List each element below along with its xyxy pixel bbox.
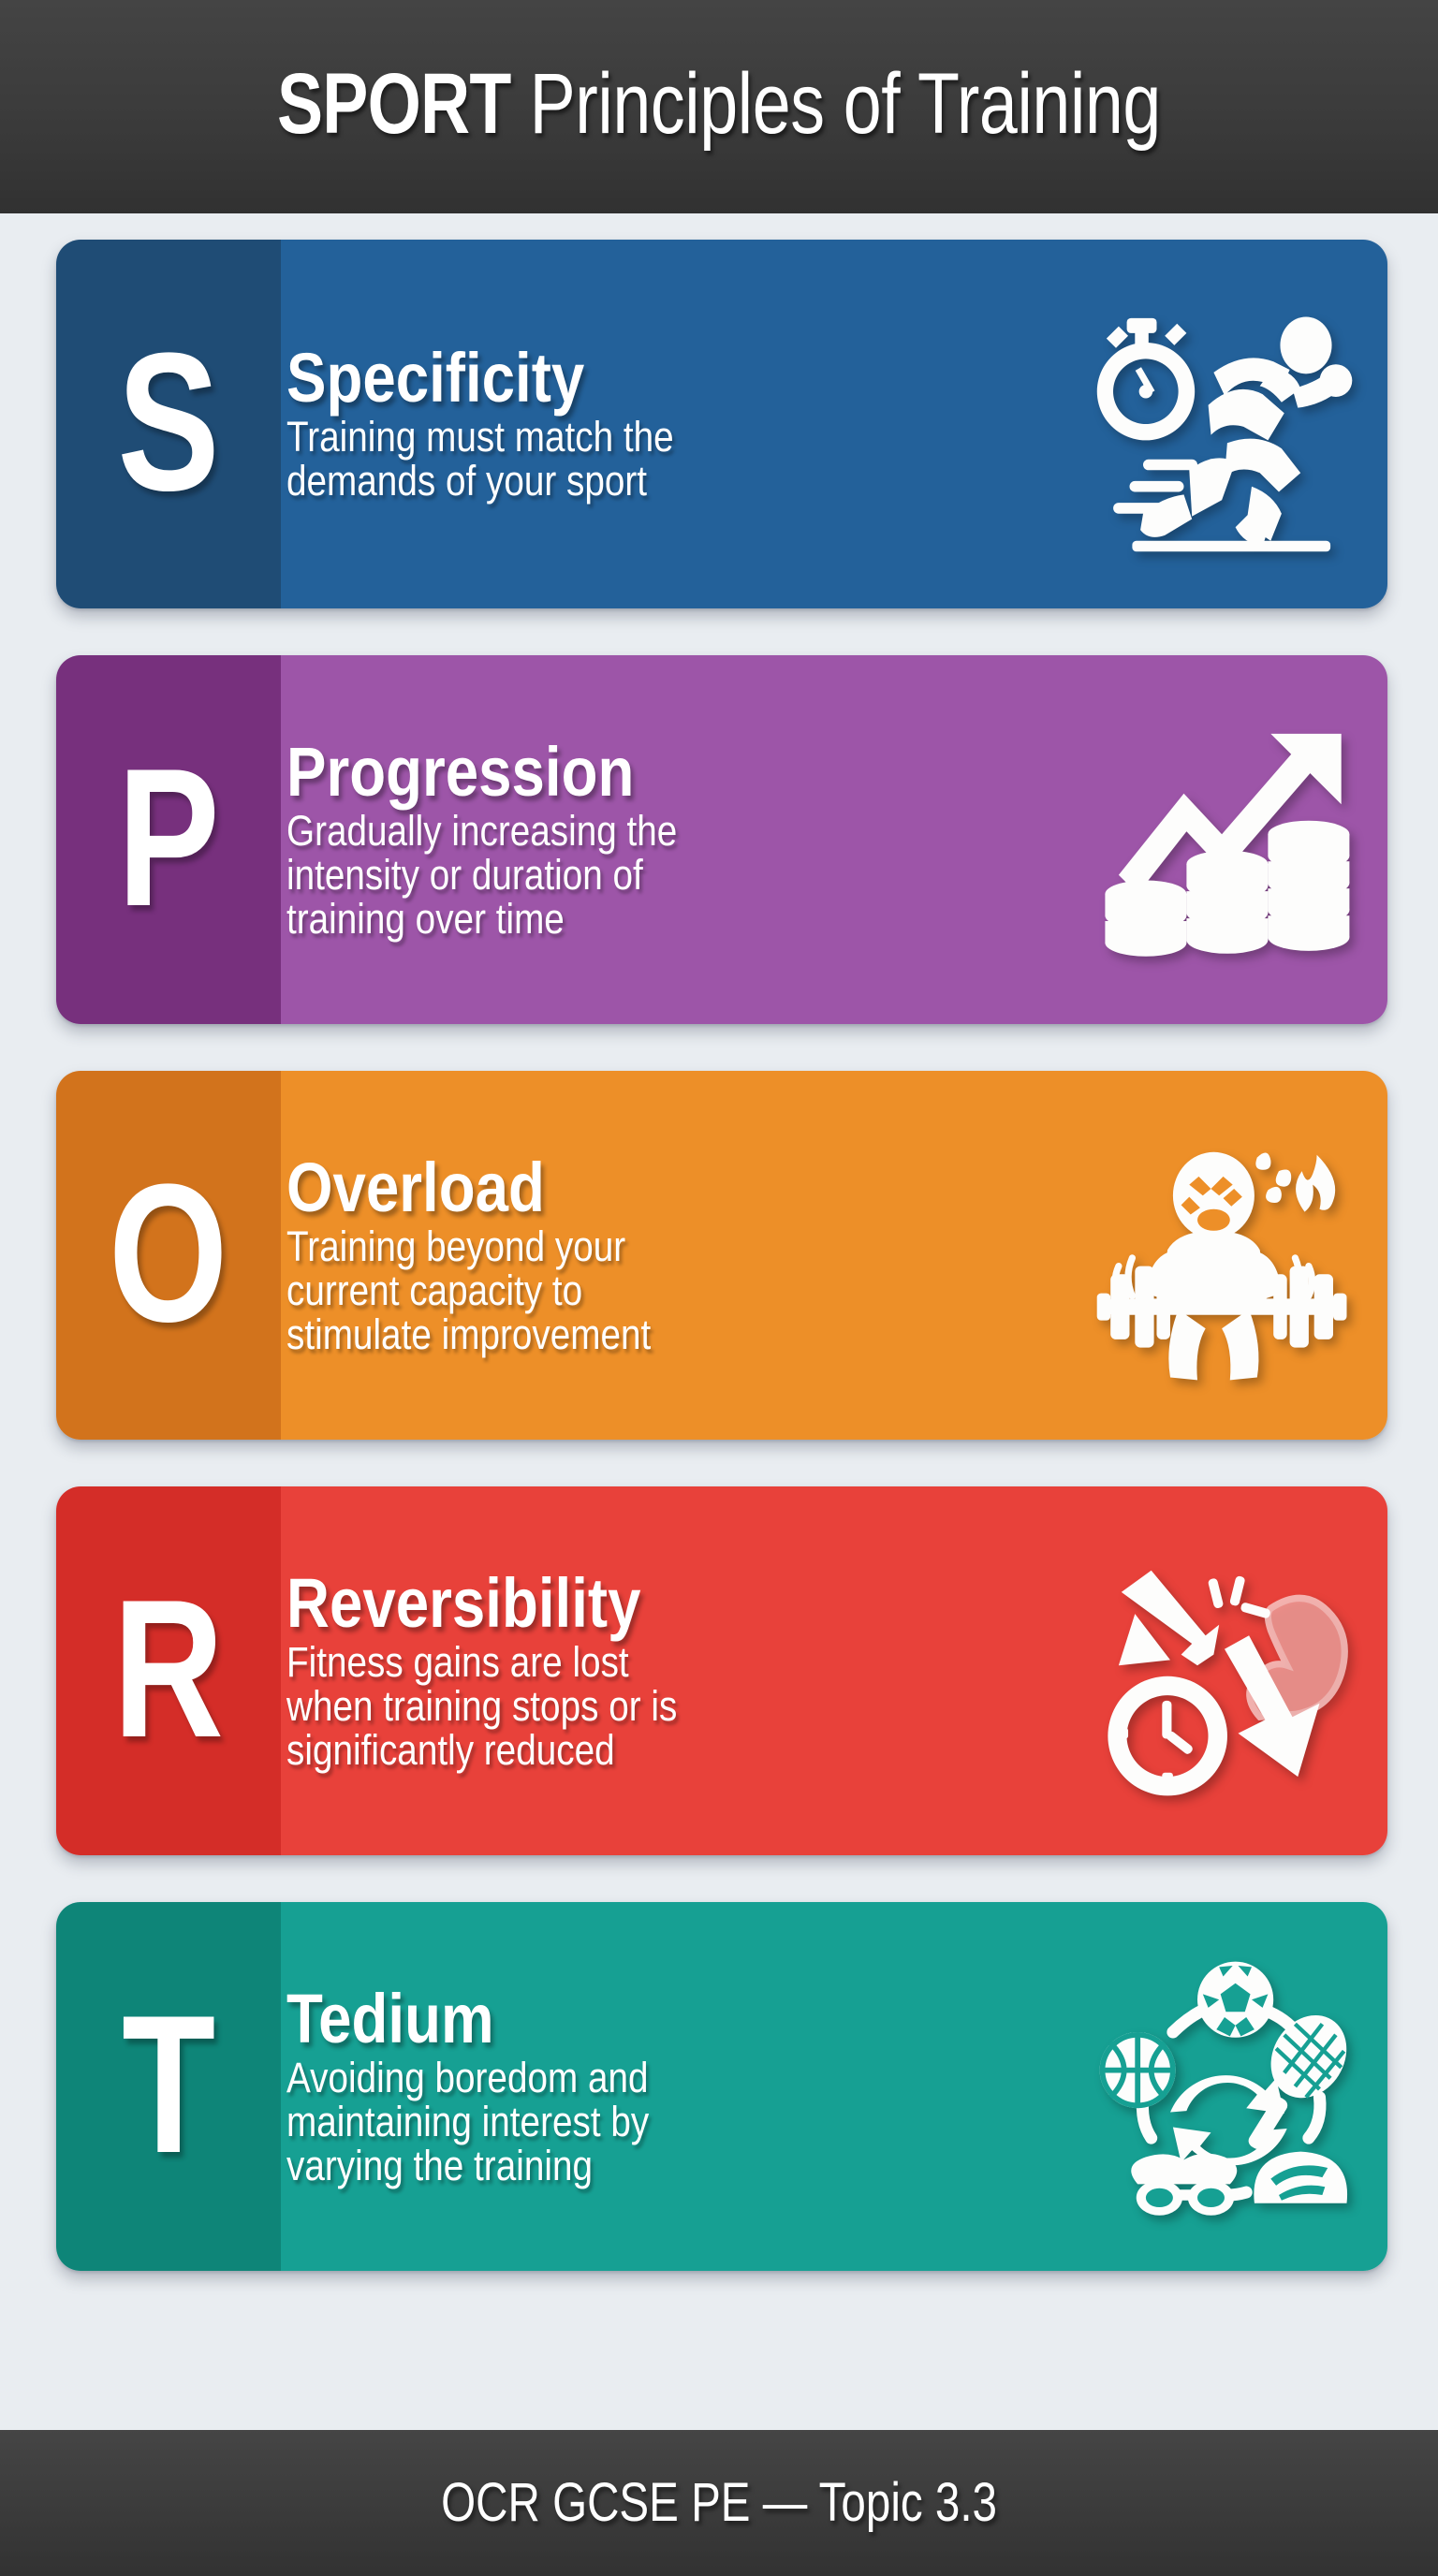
description-line: intensity or duration of: [286, 854, 957, 898]
page-header: SPORT Principles of Training: [0, 0, 1438, 213]
principle-description: Gradually increasing the intensity or du…: [286, 810, 957, 941]
description-line: varying the training: [286, 2144, 957, 2188]
principle-description: Training must match the demands of your …: [286, 416, 957, 504]
infographic-page: SPORT Principles of Training S Specifici…: [0, 0, 1438, 2576]
letter-strip: P: [56, 655, 281, 1024]
card-body: Progression Gradually increasing the int…: [281, 655, 1387, 1024]
description-line: when training stops or is: [286, 1685, 957, 1729]
description-line: Gradually increasing the: [286, 810, 957, 854]
card-text: Reversibility Fitness gains are lost whe…: [286, 1570, 1078, 1773]
principle-letter: O: [109, 1169, 227, 1339]
letter-strip: R: [56, 1486, 281, 1855]
card-text: Overload Training beyond your current ca…: [286, 1154, 1078, 1357]
description-line: Fitness gains are lost: [286, 1641, 957, 1685]
description-line: demands of your sport: [286, 460, 957, 504]
stopwatch-runner-icon: [1078, 288, 1387, 560]
principle-letter: R: [113, 1585, 224, 1754]
principle-description: Avoiding boredom and maintaining interes…: [286, 2056, 957, 2188]
description-line: stimulate improvement: [286, 1313, 957, 1357]
principle-letter: S: [117, 338, 219, 507]
card-body: Reversibility Fitness gains are lost whe…: [281, 1486, 1387, 1855]
principle-card-overload[interactable]: O Overload Training beyond your current …: [56, 1071, 1387, 1440]
principle-title: Progression: [286, 739, 957, 807]
description-line: maintaining interest by: [286, 2100, 957, 2144]
card-body: Tedium Avoiding boredom and maintaining …: [281, 1902, 1387, 2271]
letter-strip: T: [56, 1902, 281, 2271]
principles-list: S Specificity Training must match the de…: [0, 213, 1438, 2430]
principle-title: Reversibility: [286, 1570, 957, 1638]
letter-strip: O: [56, 1071, 281, 1440]
card-text: Specificity Training must match the dema…: [286, 344, 1078, 504]
description-line: training over time: [286, 898, 957, 942]
principle-card-reversibility[interactable]: R Reversibility Fitness gains are lost w…: [56, 1486, 1387, 1855]
principle-title: Specificity: [286, 344, 957, 413]
description-line: Avoiding boredom and: [286, 2056, 957, 2100]
principle-title: Tedium: [286, 1985, 957, 2054]
card-text: Progression Gradually increasing the int…: [286, 739, 1078, 942]
card-body: Specificity Training must match the dema…: [281, 240, 1387, 608]
page-title-brand: SPORT: [277, 56, 511, 152]
page-footer: OCR GCSE PE — Topic 3.3: [0, 2430, 1438, 2576]
principle-card-progression[interactable]: P Progression Gradually increasing the i…: [56, 655, 1387, 1024]
principle-title: Overload: [286, 1154, 957, 1222]
footer-label: OCR GCSE PE — Topic 3.3: [441, 2476, 997, 2530]
principle-letter: P: [117, 754, 219, 923]
page-title-subtitle: Principles of Training: [530, 56, 1161, 152]
description-line: significantly reduced: [286, 1729, 957, 1773]
principle-card-specificity[interactable]: S Specificity Training must match the de…: [56, 240, 1387, 608]
letter-strip: S: [56, 240, 281, 608]
sports-variety-cycle-icon: [1078, 1951, 1387, 2222]
description-line: current capacity to: [286, 1269, 957, 1313]
principle-description: Fitness gains are lost when training sto…: [286, 1641, 957, 1772]
card-body: Overload Training beyond your current ca…: [281, 1071, 1387, 1440]
broken-arrow-clock-muscle-icon: [1078, 1535, 1387, 1807]
rising-arrow-coin-stacks-icon: [1078, 704, 1387, 975]
principle-description: Training beyond your current capacity to…: [286, 1225, 957, 1356]
principle-letter: T: [122, 2000, 215, 2170]
principle-card-tedium[interactable]: T Tedium Avoiding boredom and maintainin…: [56, 1902, 1387, 2271]
description-line: Training beyond your: [286, 1225, 957, 1269]
page-title: SPORT Principles of Training: [277, 61, 1161, 153]
description-line: Training must match the: [286, 416, 957, 460]
weightlifter-strain-flame-icon: [1078, 1120, 1387, 1391]
card-text: Tedium Avoiding boredom and maintaining …: [286, 1985, 1078, 2188]
